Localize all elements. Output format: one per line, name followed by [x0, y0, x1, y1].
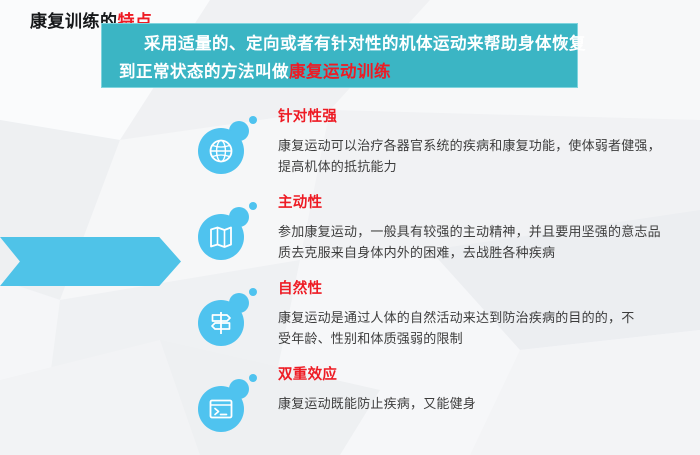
icon-cluster — [196, 288, 258, 350]
feature-text-block: 自然性 康复运动是通过人体的自然活动来达到防治疾病的目的的，不 受年龄、性别和体… — [278, 282, 696, 349]
terminal-window-icon — [198, 386, 244, 432]
feature-title: 针对性强 — [278, 110, 696, 125]
feature-body-line: 参加康复运动，一般具有较强的主动精神，并且要用坚强的意志品 — [278, 221, 696, 242]
accent-dot-small — [249, 202, 257, 210]
banner-line-1: 采用适量的、定向或者有针对性的机体运动来帮助身体恢复 — [144, 36, 586, 53]
feature-body-line: 康复运动既能防止疾病，又能健身 — [278, 393, 696, 414]
feature-row: 双重效应 康复运动既能防止疾病，又能健身 — [0, 368, 700, 454]
feature-body: 康复运动可以治疗各器官系统的疾病和康复功能，使体弱者健强， 提高机体的抵抗能力 — [278, 135, 696, 178]
feature-body: 康复运动既能防止疾病，又能健身 — [278, 393, 696, 414]
feature-text-block: 双重效应 康复运动既能防止疾病，又能健身 — [278, 368, 696, 414]
feature-title: 自然性 — [278, 282, 696, 297]
feature-body-line: 康复运动可以治疗各器官系统的疾病和康复功能，使体弱者健强， — [278, 135, 696, 156]
icon-cluster — [196, 116, 258, 178]
globe-icon — [198, 128, 244, 174]
feature-body: 参加康复运动，一般具有较强的主动精神，并且要用坚强的意志品 质去克服来自身体内外… — [278, 221, 696, 264]
feature-body-line: 提高机体的抵抗能力 — [278, 156, 696, 177]
feature-row: 针对性强 康复运动可以治疗各器官系统的疾病和康复功能，使体弱者健强， 提高机体的… — [0, 110, 700, 196]
feature-body-line: 质去克服来自身体内外的困难，去战胜各种疾病 — [278, 242, 696, 263]
feature-title: 主动性 — [278, 196, 696, 211]
folded-map-icon — [198, 214, 244, 260]
banner-line-2: 到正常状态的方法叫做康复运动训练 — [119, 64, 391, 81]
feature-row: 自然性 康复运动是通过人体的自然活动来达到防治疾病的目的的，不 受年龄、性别和体… — [0, 282, 700, 368]
left-arrow-tag — [0, 237, 181, 286]
feature-title: 双重效应 — [278, 368, 696, 383]
feature-text-block: 针对性强 康复运动可以治疗各器官系统的疾病和康复功能，使体弱者健强， 提高机体的… — [278, 110, 696, 177]
banner-line-2-highlight: 康复运动训练 — [289, 63, 391, 81]
feature-body-line: 康复运动是通过人体的自然活动来达到防治疾病的目的的，不 — [278, 307, 696, 328]
banner-line-2-prefix: 到正常状态的方法叫做 — [119, 63, 289, 81]
header-banner: 采用适量的、定向或者有针对性的机体运动来帮助身体恢复 到正常状态的方法叫做康复运… — [101, 23, 578, 88]
accent-dot-small — [249, 116, 257, 124]
signpost-icon — [198, 300, 244, 346]
feature-body-line: 受年龄、性别和体质强弱的限制 — [278, 328, 696, 349]
feature-body: 康复运动是通过人体的自然活动来达到防治疾病的目的的，不 受年龄、性别和体质强弱的… — [278, 307, 696, 350]
infographic-canvas: 采用适量的、定向或者有针对性的机体运动来帮助身体恢复 到正常状态的方法叫做康复运… — [0, 0, 700, 455]
accent-dot-small — [249, 288, 257, 296]
icon-cluster — [196, 202, 258, 264]
feature-text-block: 主动性 参加康复运动，一般具有较强的主动精神，并且要用坚强的意志品 质去克服来自… — [278, 196, 696, 263]
accent-dot-small — [249, 374, 257, 382]
icon-cluster — [196, 374, 258, 436]
